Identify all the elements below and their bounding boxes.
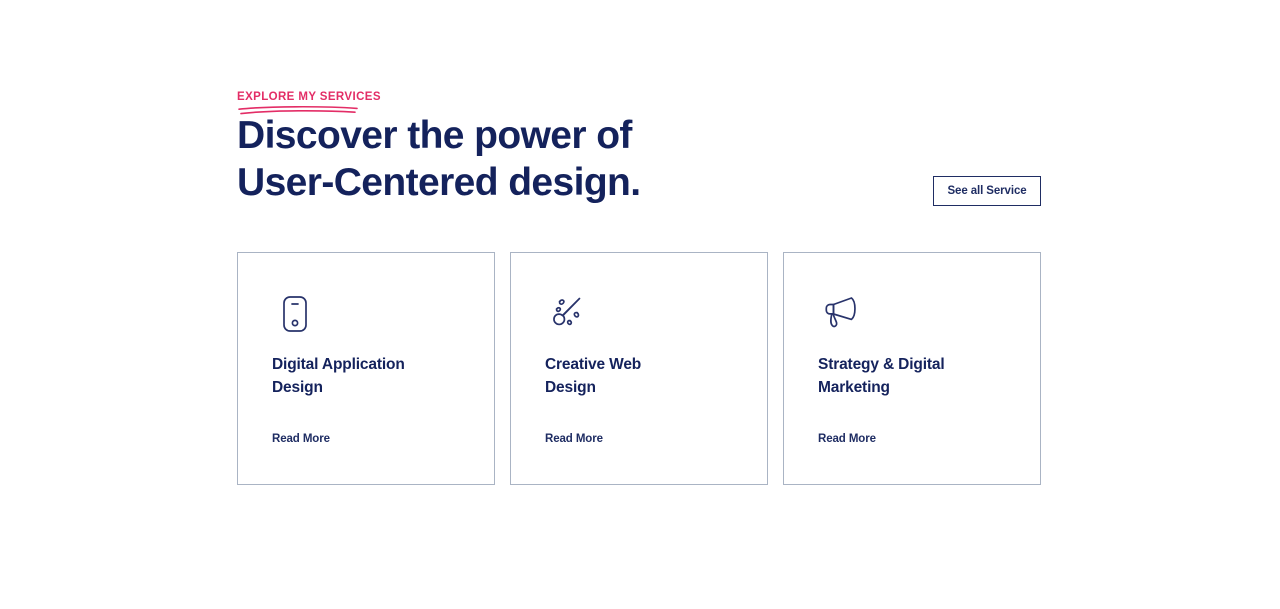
service-card-strategy-digital-marketing[interactable]: Strategy & Digital Marketing Read More (783, 252, 1041, 485)
mobile-device-icon (271, 290, 319, 338)
paint-brush-icon (544, 290, 592, 338)
service-card-title: Digital Application Design (272, 353, 482, 399)
service-card-title: Creative Web Design (545, 353, 755, 399)
content-container: EXPLORE MY SERVICES Discover the power o… (237, 0, 1041, 609)
read-more-link[interactable]: Read More (272, 433, 330, 445)
service-card-title: Strategy & Digital Marketing (818, 353, 1028, 399)
services-section: EXPLORE MY SERVICES Discover the power o… (0, 0, 1280, 609)
eyebrow-label: EXPLORE MY SERVICES (237, 90, 497, 104)
page-title: Discover the power of User-Centered desi… (237, 112, 877, 206)
see-all-service-button[interactable]: See all Service (933, 176, 1041, 206)
read-more-link[interactable]: Read More (545, 433, 603, 445)
service-card-creative-web-design[interactable]: Creative Web Design Read More (510, 252, 768, 485)
service-card-digital-application-design[interactable]: Digital Application Design Read More (237, 252, 495, 485)
heading-line-2: User-Centered design. (237, 159, 877, 206)
megaphone-icon (817, 290, 865, 338)
service-card-list: Digital Application Design Read More Cre… (237, 252, 1041, 485)
read-more-link[interactable]: Read More (818, 433, 876, 445)
heading-line-1: Discover the power of (237, 112, 877, 159)
